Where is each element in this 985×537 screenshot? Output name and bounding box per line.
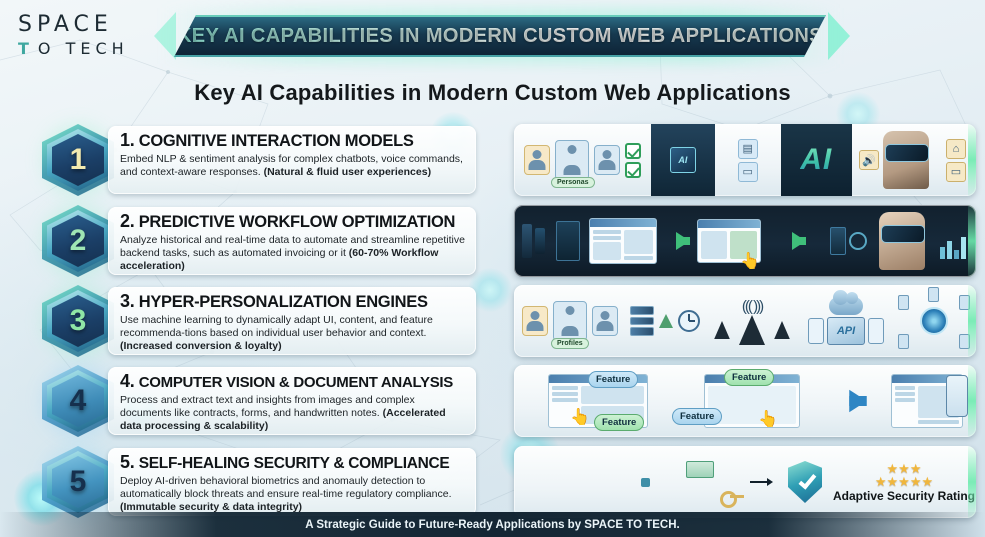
security-rating: ★★★ ★★★★★ Adaptive Security Rating: [833, 462, 975, 503]
footer: A Strategic Guide to Future-Ready Applic…: [0, 512, 985, 537]
persona-tag: Profiles: [551, 338, 589, 349]
avatar: [555, 140, 589, 180]
panel-accent-edge: [968, 285, 976, 357]
capability-highlight: (Immutable security & data integrity): [120, 501, 302, 513]
badge-number: 1: [42, 124, 114, 196]
dashboard-window-icon: [589, 218, 657, 264]
feature-callout-icon: Feature: [588, 371, 638, 388]
minidev-icon: [928, 287, 939, 302]
minidev-icon: [898, 334, 909, 349]
mobile-device-icon: [946, 375, 968, 417]
shield-check-icon: [788, 461, 822, 503]
banner: KEY AI CAPABILITIES IN MODERN CUSTOM WEB…: [160, 8, 840, 64]
phone-icon: [808, 318, 824, 344]
device-network-hub-icon: [920, 307, 948, 335]
badge-number: 3: [42, 285, 114, 357]
server-stack-icon: [630, 306, 654, 336]
capability-title-text: HYPER-PERSONALIZATION ENGINES: [139, 293, 428, 311]
panel-accent-edge: [968, 124, 976, 196]
illustration-panel-2: 👆: [514, 205, 976, 277]
trend-arrow-icon: [659, 314, 673, 328]
banner-title: KEY AI CAPABILITIES IN MODERN CUSTOM WEB…: [177, 25, 823, 48]
feature-callout-icon: Feature: [672, 408, 722, 425]
capability-title-text: SELF-HEALING SECURITY & COMPLIANCE: [139, 455, 450, 472]
capability-description: Use machine learning to dynamically adap…: [120, 314, 466, 352]
blockchain-network-icon: [526, 451, 622, 513]
checkbox-checked-icon: [625, 143, 641, 159]
avatar: [553, 301, 587, 341]
capability-highlight: (Natural & fluid user experiences): [264, 166, 431, 178]
radio-tower-icon: [774, 321, 790, 339]
cursor-hand-icon: 👆: [740, 251, 760, 271]
capability-row: 1 1. COGNITIVE INTERACTION MODELS Embed …: [0, 122, 985, 198]
page-title: Key AI Capabilities in Modern Custom Web…: [0, 80, 985, 106]
cube-icon: [553, 466, 583, 496]
infographic-canvas: SPACE T O TECH KEY AI CAPABILITIES IN MO…: [0, 0, 985, 537]
capability-title: 1. COGNITIVE INTERACTION MODELS: [120, 130, 466, 151]
capability-index: 2.: [120, 211, 134, 231]
green-arrow-icon: [792, 232, 806, 250]
cube-icon: [654, 468, 682, 496]
cube-icon: [688, 480, 712, 504]
capability-description-text: Use machine learning to dynamically adap…: [120, 314, 433, 339]
persona-tag: Personas: [551, 177, 595, 188]
illustration-panel-5: ★★★ ★★★★★ Adaptive Security Rating: [514, 446, 976, 518]
cube-icon: [528, 483, 552, 507]
capability-description: Process and extract text and insights fr…: [120, 394, 466, 432]
capability-title: 3. HYPER-PERSONALIZATION ENGINES: [120, 291, 466, 312]
step-badge-3[interactable]: 3: [42, 285, 114, 357]
feature-callout-icon: Feature: [594, 414, 644, 431]
vr-headset-person-icon: [879, 212, 925, 270]
cube-icon: [580, 485, 604, 509]
product-card-icon: ▤: [738, 139, 758, 159]
credit-card-icon: [686, 461, 714, 478]
chevron-left-icon: [154, 12, 176, 60]
capability-description: Deploy AI-driven behavioral biometrics a…: [120, 475, 466, 513]
capability-row: 4 4. COMPUTER VISION & DOCUMENT ANALYSIS…: [0, 363, 985, 439]
persona-card-icon: [594, 145, 620, 175]
badge-number: 4: [42, 365, 114, 437]
persona-card-icon: [592, 306, 618, 336]
banner-plate: KEY AI CAPABILITIES IN MODERN CUSTOM WEB…: [174, 15, 826, 57]
brand-logo-line2: T O TECH: [18, 39, 158, 58]
capability-description: Analyze historical and real-time data to…: [120, 234, 466, 272]
minidev-icon: [898, 295, 909, 310]
chevron-right-icon: [828, 12, 850, 60]
capability-index: 3.: [120, 291, 134, 311]
radio-tower-icon: [714, 321, 730, 339]
step-badge-5[interactable]: 5: [42, 446, 114, 518]
vr-headset-person-icon: [883, 131, 929, 189]
credit-card-icon: ▭: [738, 162, 758, 182]
panel-accent-edge: [968, 365, 976, 437]
capability-description-text: Process and extract text and insights fr…: [120, 394, 415, 419]
capability-index: 1.: [120, 130, 134, 150]
radio-tower-icon: [739, 315, 765, 345]
star-icon: ★★★: [887, 462, 922, 475]
illustration-panel-1: Personas AI ▤ ▭ AI 🔊: [514, 124, 976, 196]
capability-description: Embed NLP & sentiment analysis for compl…: [120, 153, 466, 179]
ai-wordmark: AI: [800, 143, 832, 177]
green-arrow-icon: [676, 232, 690, 250]
panel-accent-edge: [968, 446, 976, 518]
step-badge-1[interactable]: 1: [42, 124, 114, 196]
cursor-hand-icon: 👆: [758, 409, 778, 429]
badge-number: 5: [42, 446, 114, 518]
phone-icon: [868, 318, 884, 344]
payment-card-icon: ▭: [946, 162, 966, 182]
badge-number: 2: [42, 205, 114, 277]
header: SPACE T O TECH KEY AI CAPABILITIES IN MO…: [0, 0, 985, 72]
capability-row: 5 5. SELF-HEALING SECURITY & COMPLIANCE …: [0, 444, 985, 520]
capability-title: 2. PREDICTIVE WORKFLOW OPTIMIZATION: [120, 211, 466, 232]
step-badge-4[interactable]: 4: [42, 365, 114, 437]
capability-row: 2 2. PREDICTIVE WORKFLOW OPTIMIZATION An…: [0, 203, 985, 279]
illustration-panel-3: Profiles ((( ))): [514, 285, 976, 357]
illustration-panel-4: 👆 Feature Feature Feature Feature 👆: [514, 365, 976, 437]
brand-logo-mark: T: [18, 39, 34, 58]
capability-row: 3 3. HYPER-PERSONALIZATION ENGINES Use m…: [0, 283, 985, 359]
step-badge-2[interactable]: 2: [42, 205, 114, 277]
speaker-icon: 🔊: [859, 150, 879, 170]
cloud-icon: [829, 297, 863, 315]
capability-card[interactable]: 4. COMPUTER VISION & DOCUMENT ANALYSIS P…: [108, 367, 476, 435]
footer-text: A Strategic Guide to Future-Ready Applic…: [305, 519, 679, 531]
capability-title: 4. COMPUTER VISION & DOCUMENT ANALYSIS: [120, 371, 466, 392]
panel-accent-edge: [968, 205, 976, 277]
capability-card[interactable]: 1. COGNITIVE INTERACTION MODELS Embed NL…: [108, 126, 476, 194]
feature-callout-icon: Feature: [724, 369, 774, 386]
blue-arrow-icon: [849, 390, 867, 413]
brand-logo-line1: SPACE: [18, 12, 158, 37]
capability-index: 4.: [120, 371, 134, 391]
persona-card-icon: [524, 145, 550, 175]
monitor-api-icon: API: [827, 317, 865, 345]
capability-title: 5. SELF-HEALING SECURITY & COMPLIANCE: [120, 452, 466, 473]
capability-card[interactable]: 5. SELF-HEALING SECURITY & COMPLIANCE De…: [108, 448, 476, 516]
brand-logo-line2-text: O TECH: [38, 39, 129, 58]
clock-icon: [678, 310, 700, 332]
cursor-hand-icon: 👆: [570, 407, 590, 427]
checkbox-checked-icon: [625, 162, 641, 178]
capability-card[interactable]: 3. HYPER-PERSONALIZATION ENGINES Use mac…: [108, 287, 476, 355]
star-icon: ★★★★★: [875, 475, 933, 488]
signal-wave-icon: ((( ))): [742, 298, 762, 315]
brand-logo[interactable]: SPACE T O TECH: [18, 12, 158, 58]
storefront-icon: ⌂: [946, 139, 966, 159]
persona-card-icon: [522, 306, 548, 336]
capability-card[interactable]: 2. PREDICTIVE WORKFLOW OPTIMIZATION Anal…: [108, 207, 476, 275]
capability-description-text: Deploy AI-driven behavioral biometrics a…: [120, 475, 452, 500]
ai-chip-icon: AI: [670, 147, 696, 173]
rating-label: Adaptive Security Rating: [833, 489, 975, 503]
capability-title-text: PREDICTIVE WORKFLOW OPTIMIZATION: [139, 213, 455, 231]
capability-title-text: COMPUTER VISION & DOCUMENT ANALYSIS: [139, 374, 453, 391]
capability-index: 5.: [120, 452, 134, 472]
capability-title-text: COGNITIVE INTERACTION MODELS: [139, 132, 414, 150]
key-icon: [720, 491, 744, 501]
capability-highlight: (Increased conversion & loyalty): [120, 340, 282, 352]
cube-icon: [718, 462, 744, 488]
